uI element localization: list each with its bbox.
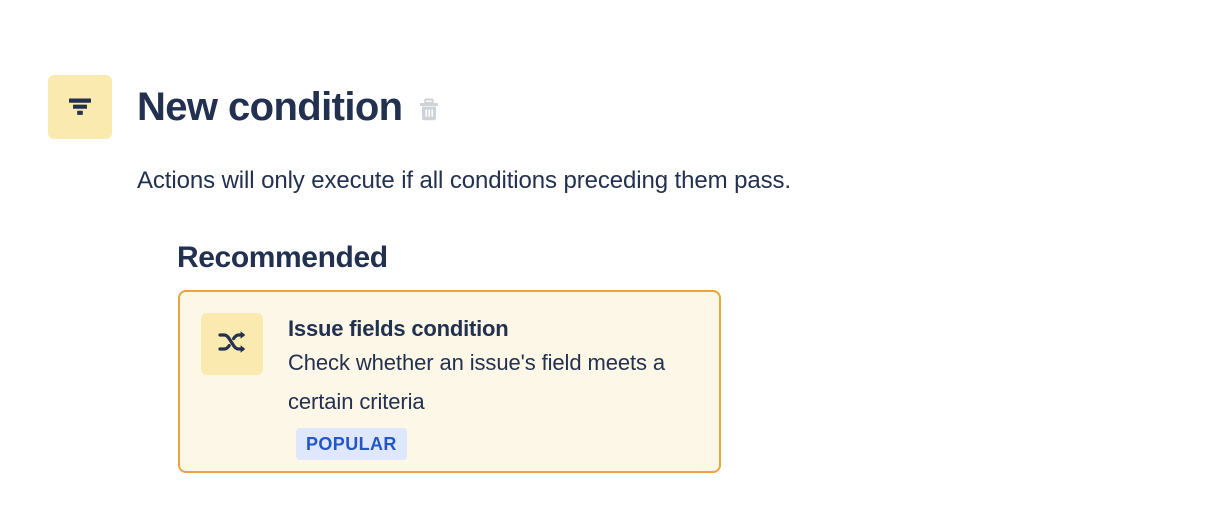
page-header: New condition xyxy=(48,75,441,139)
page-title: New condition xyxy=(137,84,403,130)
trash-icon[interactable] xyxy=(417,97,441,123)
card-shuffle-icon-box xyxy=(201,313,263,375)
status-badge-popular: POPULAR xyxy=(296,428,407,460)
card-title: Issue fields condition xyxy=(288,314,688,343)
page-title-group: New condition xyxy=(137,75,441,139)
shuffle-icon xyxy=(215,325,249,364)
condition-card-issue-fields[interactable]: Issue fields condition Check whether an … xyxy=(178,290,721,473)
card-body: Issue fields condition Check whether an … xyxy=(288,313,688,471)
section-heading-recommended: Recommended xyxy=(177,240,388,276)
condition-filter-icon-box xyxy=(48,75,112,139)
card-badge-row: POPULAR xyxy=(296,428,688,460)
page-description: Actions will only execute if all conditi… xyxy=(137,165,791,197)
card-description: Check whether an issue's field meets a c… xyxy=(288,343,688,421)
new-condition-page: New condition Actions will only execute … xyxy=(0,0,1218,508)
filter-icon xyxy=(63,88,97,127)
